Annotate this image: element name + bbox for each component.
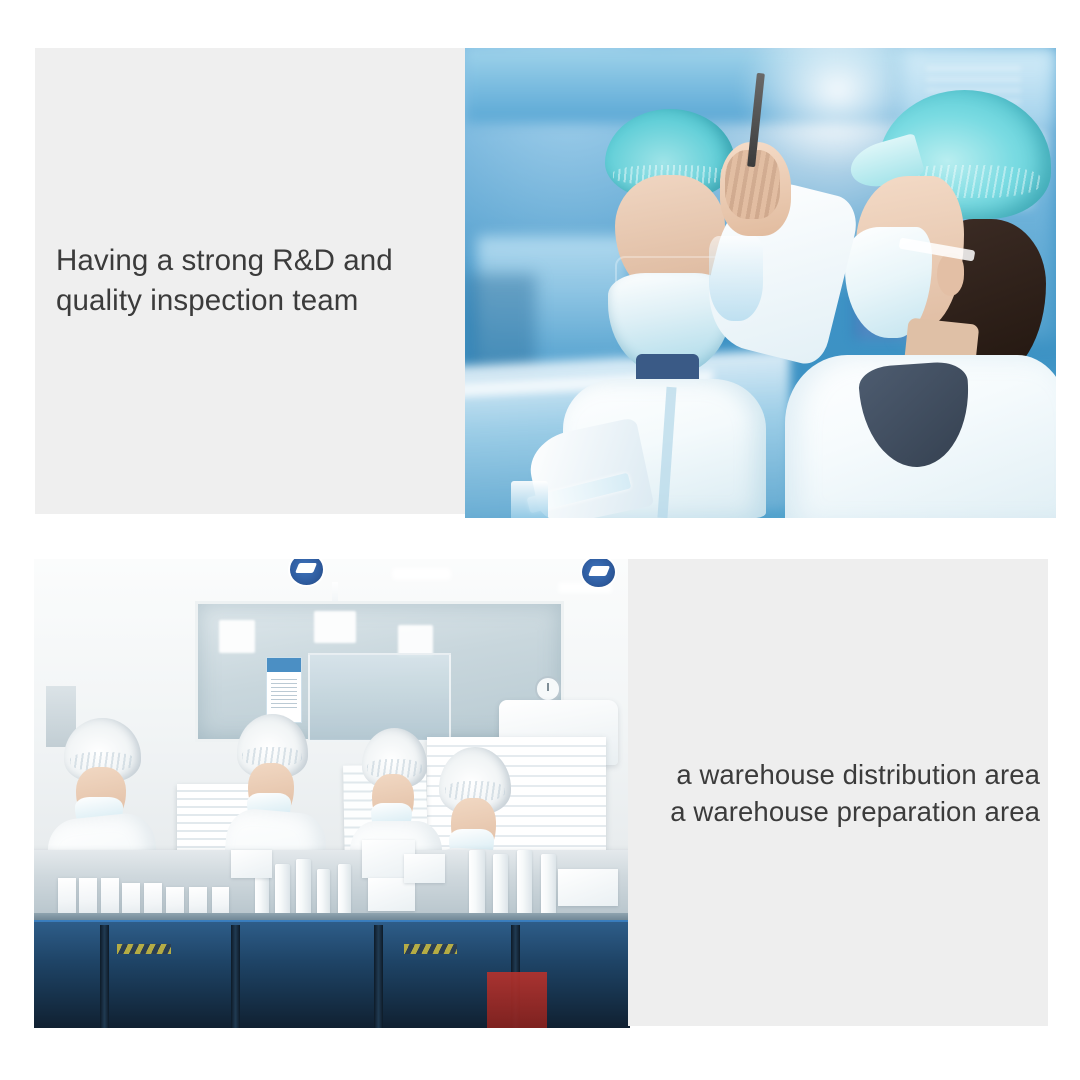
wall-clock: [535, 676, 561, 701]
product-tube: [517, 850, 532, 916]
laboratory-rd-quality-inspection-photo: [465, 48, 1056, 518]
product-tube: [493, 854, 508, 915]
lab-technician-profile: [796, 90, 1056, 518]
product-tube: [338, 864, 351, 916]
open-carton: [558, 869, 618, 907]
table-leg: [374, 925, 384, 1028]
rnd-caption-text: Having a strong R&D and quality inspecti…: [35, 241, 405, 321]
warehouse-scene: [34, 559, 630, 1028]
lab-ear: [937, 253, 964, 296]
open-carton: [404, 854, 446, 882]
open-carton: [231, 850, 273, 878]
ceiling-light-1: [392, 568, 452, 579]
product-tube: [541, 854, 556, 915]
window-light-2: [314, 611, 356, 644]
page-canvas: Having a strong R&D and quality inspecti…: [0, 0, 1080, 1080]
lab-scene: [465, 48, 1056, 518]
product-tube: [317, 869, 330, 916]
window-light-1: [219, 620, 255, 653]
product-tube: [296, 859, 310, 915]
rnd-caption-panel: Having a strong R&D and quality inspecti…: [35, 48, 467, 514]
product-tube: [469, 850, 484, 916]
lab-dark-panel: [465, 274, 536, 377]
table-leg: [231, 925, 241, 1028]
floor-hazard-marking: [404, 944, 458, 954]
product-tube: [275, 864, 289, 916]
warehouse-caption-text: a warehouse distribution area a warehous…: [660, 756, 1048, 830]
lab-sample-vial: [511, 481, 547, 518]
worker-red-garment: [487, 972, 547, 1028]
lab-flask: [709, 236, 763, 322]
warehouse-caption-panel: a warehouse distribution area a warehous…: [628, 559, 1048, 1026]
warehouse-packing-preparation-photo: [34, 559, 630, 1028]
table-leg: [100, 925, 110, 1028]
floor-hazard-marking: [117, 944, 171, 954]
open-carton: [368, 878, 416, 911]
